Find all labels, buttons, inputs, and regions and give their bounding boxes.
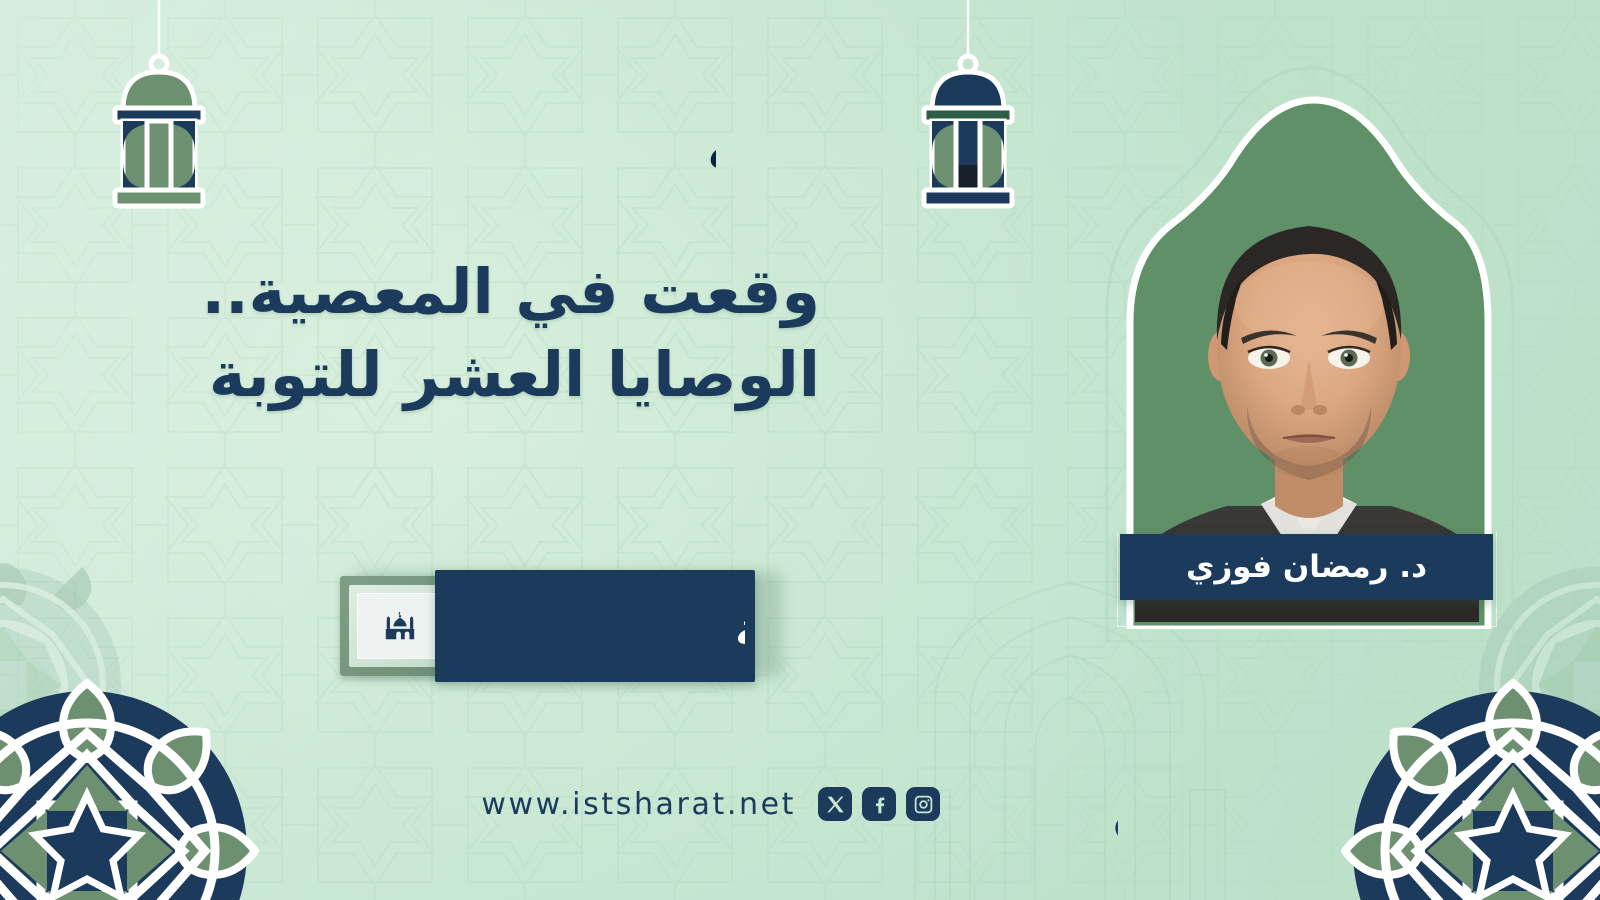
lantern-navy-icon (908, 0, 1028, 215)
consultation-banner: استشارات إيمانية (340, 558, 785, 683)
poster-title: وقعت في المعصية.. الوصايا العشر للتوبة (240, 250, 820, 416)
rosette-bottom-left (0, 676, 262, 900)
speaker-name: د. رمضان فوزي (1186, 549, 1427, 585)
website-url[interactable]: www.istsharat.net (481, 787, 796, 822)
speaker-name-badge: د. رمضان فوزي (1120, 534, 1493, 600)
title-line-2: الوصايا العشر للتوبة (240, 333, 820, 416)
magazine-logo-text: المجتمع (1112, 774, 1118, 843)
title-line-1: وقعت في المعصية.. (240, 250, 820, 333)
poster-canvas: بوابة الاستشارات الإلكترونية وقعت في الم… (0, 0, 1600, 900)
rosette-bottom-right (1338, 676, 1600, 900)
social-links (818, 787, 940, 821)
banner-text-plate: استشارات إيمانية (435, 570, 755, 682)
mosque-icon (357, 593, 443, 659)
footer-bar: المجتمع www.istsharat.net (478, 752, 1118, 856)
brand-calligraphy-logo: بوابة الاستشارات الإلكترونية (196, 62, 716, 212)
x-twitter-icon[interactable] (818, 787, 852, 821)
brand-logo-text: بوابة الاستشارات الإلكترونية (706, 103, 716, 188)
facebook-icon[interactable] (862, 787, 896, 821)
banner-text: استشارات إيمانية (735, 602, 745, 657)
instagram-icon[interactable] (906, 787, 940, 821)
speaker-portrait-zone: د. رمضان فوزي (1095, 62, 1525, 642)
magazine-logo: المجتمع (968, 752, 1118, 856)
